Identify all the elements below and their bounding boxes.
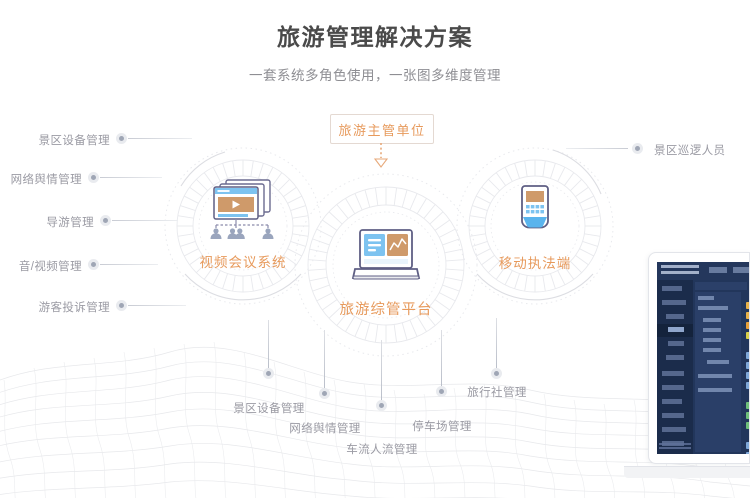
connector-dot-right-0: [632, 143, 643, 154]
dashboard-tree-row: [698, 388, 732, 392]
dashboard-main: [693, 280, 749, 454]
dashboard-screenshot: [657, 262, 749, 454]
connector-label-bottom-1[interactable]: 网络舆情管理: [284, 420, 366, 436]
connector-line-left-2: [112, 220, 178, 221]
laptop-mockup: [648, 252, 750, 498]
video-conference-icon: [204, 176, 282, 240]
dashboard-tree-row: [703, 328, 721, 332]
authority-label: 旅游主管单位: [338, 120, 425, 139]
dashboard-sidebar: [657, 280, 693, 454]
connector-label-bottom-4[interactable]: 旅行社管理: [456, 384, 538, 400]
dashboard-icon: [746, 372, 749, 379]
dashboard-tree-row: [707, 360, 729, 364]
dashboard-icon: [746, 322, 749, 329]
node-label-mobile-enforcement: 移动执法端: [475, 252, 595, 272]
connector-dot-left-3: [88, 259, 99, 270]
connector-dot-left-1: [88, 172, 99, 183]
dashboard-icon: [746, 352, 749, 359]
dashboard-sidebar-item: [666, 314, 684, 319]
dashboard-tree-row: [698, 296, 714, 300]
dashboard-tree-row: [703, 348, 721, 352]
dashboard-sidebar-item: [662, 371, 684, 376]
dashboard-tree-row: [698, 306, 728, 310]
connector-line-left-1: [100, 177, 162, 178]
dashboard-toolbar: [695, 282, 747, 290]
dashboard-icon: [746, 382, 749, 389]
dashboard-icon: [746, 452, 749, 454]
dashboard-sidebar-item: [662, 286, 682, 291]
dashboard-icon: [746, 312, 749, 319]
dashboard-icon: [746, 362, 749, 369]
connector-line-bottom-0: [268, 320, 269, 370]
dashboard-sidebar-item: [662, 427, 686, 432]
dashboard-icon: [746, 412, 749, 419]
connector-label-right-0[interactable]: 景区巡逻人员: [654, 142, 750, 158]
connector-dot-bottom-2: [376, 400, 387, 411]
dashboard-sidebar-item-active: [668, 327, 684, 332]
dashboard-topbar: [657, 262, 749, 281]
laptop-base: [624, 466, 750, 478]
connector-label-bottom-2[interactable]: 车流人流管理: [341, 441, 423, 457]
connector-line-bottom-2: [381, 340, 382, 402]
connector-label-left-2[interactable]: 导游管理: [4, 214, 94, 230]
dashboard-icon: [746, 332, 749, 339]
connector-dot-bottom-0: [263, 368, 274, 379]
dashboard-sidebar-item: [662, 300, 686, 305]
connector-dot-left-4: [116, 300, 127, 311]
connector-dot-bottom-1: [319, 388, 330, 399]
dashboard-icon: [746, 442, 749, 449]
connector-line-left-3: [100, 264, 158, 265]
dotted-down-arrow-icon: [363, 143, 399, 169]
connector-line-bottom-4: [496, 318, 497, 370]
laptop-dashboard-icon: [343, 228, 429, 286]
dashboard-logo: [661, 265, 699, 276]
page-subtitle: 一套系统多角色使用，一张图多维度管理: [0, 66, 750, 86]
connector-dot-bottom-3: [436, 386, 447, 397]
dashboard-tree-row: [698, 374, 732, 378]
solution-diagram-page: 旅游管理解决方案 一套系统多角色使用，一张图多维度管理: [0, 0, 750, 498]
dashboard-tree-row: [703, 318, 721, 322]
dashboard-icon: [746, 402, 749, 409]
node-label-video-conference: 视频会议系统: [183, 251, 303, 271]
dashboard-topmenu-1: [709, 267, 727, 273]
node-mobile-enforcement[interactable]: 移动执法端: [475, 183, 595, 272]
dashboard-right-panel: [743, 292, 747, 452]
connector-label-bottom-3[interactable]: 停车场管理: [401, 418, 483, 434]
connector-label-left-4[interactable]: 游客投诉管理: [20, 299, 110, 315]
connector-dot-bottom-4: [491, 368, 502, 379]
dashboard-sidebar-item: [666, 355, 684, 360]
connector-label-left-1[interactable]: 网络舆情管理: [0, 171, 82, 187]
dashboard-topmenu-2: [733, 267, 749, 273]
dashboard-tree-panel: [695, 292, 741, 452]
mobile-device-icon: [511, 183, 559, 241]
dashboard-tree-row: [703, 338, 721, 342]
header: 旅游管理解决方案 一套系统多角色使用，一张图多维度管理: [0, 22, 750, 86]
connector-line-left-4: [128, 305, 186, 306]
connector-line-right-0: [566, 148, 628, 149]
dashboard-icon: [746, 302, 749, 309]
dashboard-sidebar-item: [668, 341, 684, 346]
connector-label-left-3[interactable]: 音/视频管理: [0, 258, 82, 274]
laptop-lid: [648, 252, 750, 464]
authority-box[interactable]: 旅游主管单位: [330, 114, 434, 144]
node-tourism-platform[interactable]: 旅游综管平台: [326, 228, 446, 319]
dashboard-sidebar-item: [662, 399, 682, 404]
connector-line-left-0: [128, 138, 192, 139]
connector-dot-left-2: [100, 215, 111, 226]
connector-line-bottom-1: [324, 330, 325, 390]
dashboard-icon: [746, 422, 749, 429]
page-title: 旅游管理解决方案: [0, 22, 750, 52]
dashboard-sidebar-item: [662, 413, 684, 418]
dashboard-sidebar-footer: [659, 443, 691, 450]
connector-label-left-0[interactable]: 景区设备管理: [20, 132, 110, 148]
node-label-tourism-platform: 旅游综管平台: [326, 298, 446, 319]
node-video-conference[interactable]: 视频会议系统: [183, 176, 303, 271]
connector-dot-left-0: [116, 133, 127, 144]
dashboard-sidebar-item: [662, 385, 684, 390]
connector-line-bottom-3: [441, 330, 442, 388]
connector-label-bottom-0[interactable]: 景区设备管理: [228, 400, 310, 416]
